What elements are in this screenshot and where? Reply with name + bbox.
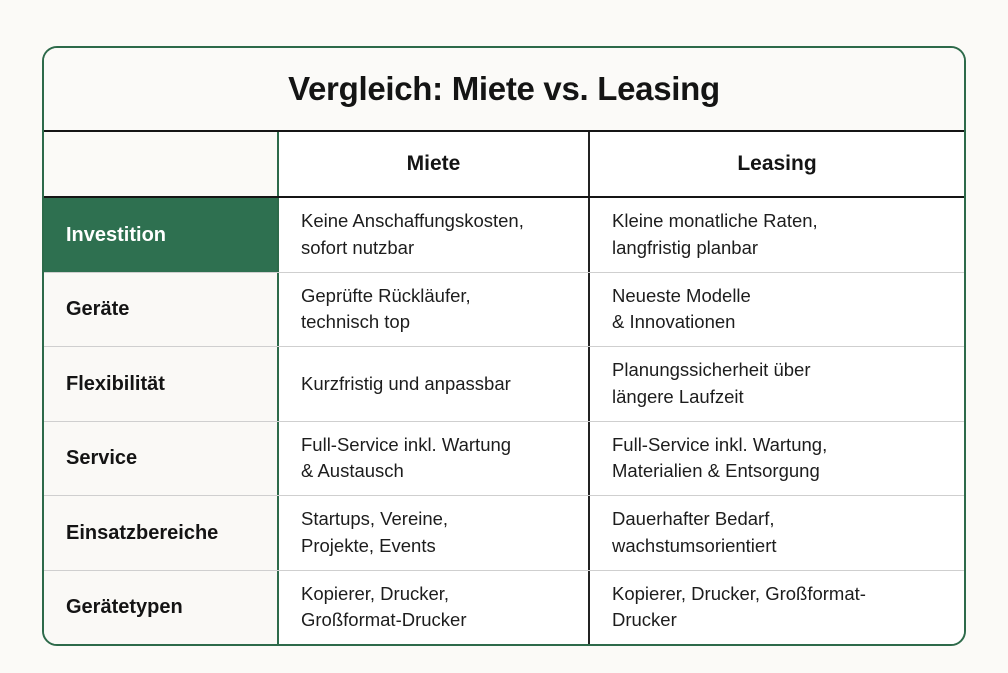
cell-text-geraete-leasing: Neueste Modelle & Innovationen [612, 283, 751, 336]
cell-geraetetypen-leasing: Kopierer, Drucker, Großformat- Drucker [588, 571, 964, 645]
cell-geraete-leasing: Neueste Modelle & Innovationen [588, 273, 964, 347]
cell-text-investition-miete: Keine Anschaffungskosten, sofort nutzbar [301, 208, 524, 261]
header-cell-leasing: Leasing [588, 132, 964, 196]
cell-einsatzbereiche-leasing: Dauerhafter Bedarf, wachstumsorientiert [588, 496, 964, 570]
row-label-investition: Investition [66, 223, 166, 247]
cell-text-geraetetypen-miete: Kopierer, Drucker, Großformat-Drucker [301, 581, 467, 634]
cell-text-flexibilitaet-leasing: Planungssicherheit über längere Laufzeit [612, 357, 811, 410]
table-row: Flexibilität Kurzfristig und anpassbar P… [44, 347, 964, 422]
cell-text-geraete-miete: Geprüfte Rückläufer, technisch top [301, 283, 471, 336]
row-label-geraete: Geräte [66, 297, 129, 321]
table-row: Gerätetypen Kopierer, Drucker, Großforma… [44, 571, 964, 645]
comparison-table-card: Vergleich: Miete vs. Leasing Miete Leasi… [42, 46, 966, 646]
cell-geraete-miete: Geprüfte Rückläufer, technisch top [277, 273, 588, 347]
cell-text-einsatzbereiche-leasing: Dauerhafter Bedarf, wachstumsorientiert [612, 506, 777, 559]
table-title-row: Vergleich: Miete vs. Leasing [44, 48, 964, 132]
table-header-row: Miete Leasing [44, 132, 964, 198]
row-label-einsatzbereiche: Einsatzbereiche [66, 521, 218, 545]
table-row: Investition Keine Anschaffungskosten, so… [44, 198, 964, 273]
header-label-miete: Miete [407, 152, 461, 176]
cell-text-einsatzbereiche-miete: Startups, Vereine, Projekte, Events [301, 506, 448, 559]
row-label-flexibilitaet: Flexibilität [66, 372, 165, 396]
cell-text-flexibilitaet-miete: Kurzfristig und anpassbar [301, 371, 511, 397]
cell-geraetetypen-miete: Kopierer, Drucker, Großformat-Drucker [277, 571, 588, 645]
cell-text-service-miete: Full-Service inkl. Wartung & Austausch [301, 432, 511, 485]
table-row: Service Full-Service inkl. Wartung & Aus… [44, 422, 964, 497]
cell-investition-miete: Keine Anschaffungskosten, sofort nutzbar [277, 198, 588, 272]
cell-flexibilitaet-miete: Kurzfristig und anpassbar [277, 347, 588, 421]
row-label-service: Service [66, 446, 137, 470]
row-label-cell-investition: Investition [44, 198, 277, 272]
row-label-cell-service: Service [44, 422, 277, 496]
row-label-cell-geraetetypen: Gerätetypen [44, 571, 277, 645]
row-label-cell-flexibilitaet: Flexibilität [44, 347, 277, 421]
cell-service-miete: Full-Service inkl. Wartung & Austausch [277, 422, 588, 496]
header-cell-miete: Miete [277, 132, 588, 196]
page-title: Vergleich: Miete vs. Leasing [288, 71, 720, 107]
cell-text-investition-leasing: Kleine monatliche Raten, langfristig pla… [612, 208, 818, 261]
row-label-cell-geraete: Geräte [44, 273, 277, 347]
cell-text-geraetetypen-leasing: Kopierer, Drucker, Großformat- Drucker [612, 581, 866, 634]
row-label-geraetetypen: Gerätetypen [66, 595, 183, 619]
table-row: Geräte Geprüfte Rückläufer, technisch to… [44, 273, 964, 348]
cell-flexibilitaet-leasing: Planungssicherheit über längere Laufzeit [588, 347, 964, 421]
page-canvas: Vergleich: Miete vs. Leasing Miete Leasi… [0, 0, 1008, 673]
table-row: Einsatzbereiche Startups, Vereine, Proje… [44, 496, 964, 571]
cell-einsatzbereiche-miete: Startups, Vereine, Projekte, Events [277, 496, 588, 570]
cell-service-leasing: Full-Service inkl. Wartung, Materialien … [588, 422, 964, 496]
header-label-leasing: Leasing [737, 152, 816, 176]
cell-investition-leasing: Kleine monatliche Raten, langfristig pla… [588, 198, 964, 272]
row-label-cell-einsatzbereiche: Einsatzbereiche [44, 496, 277, 570]
header-cell-criterion [44, 132, 277, 196]
cell-text-service-leasing: Full-Service inkl. Wartung, Materialien … [612, 432, 827, 485]
